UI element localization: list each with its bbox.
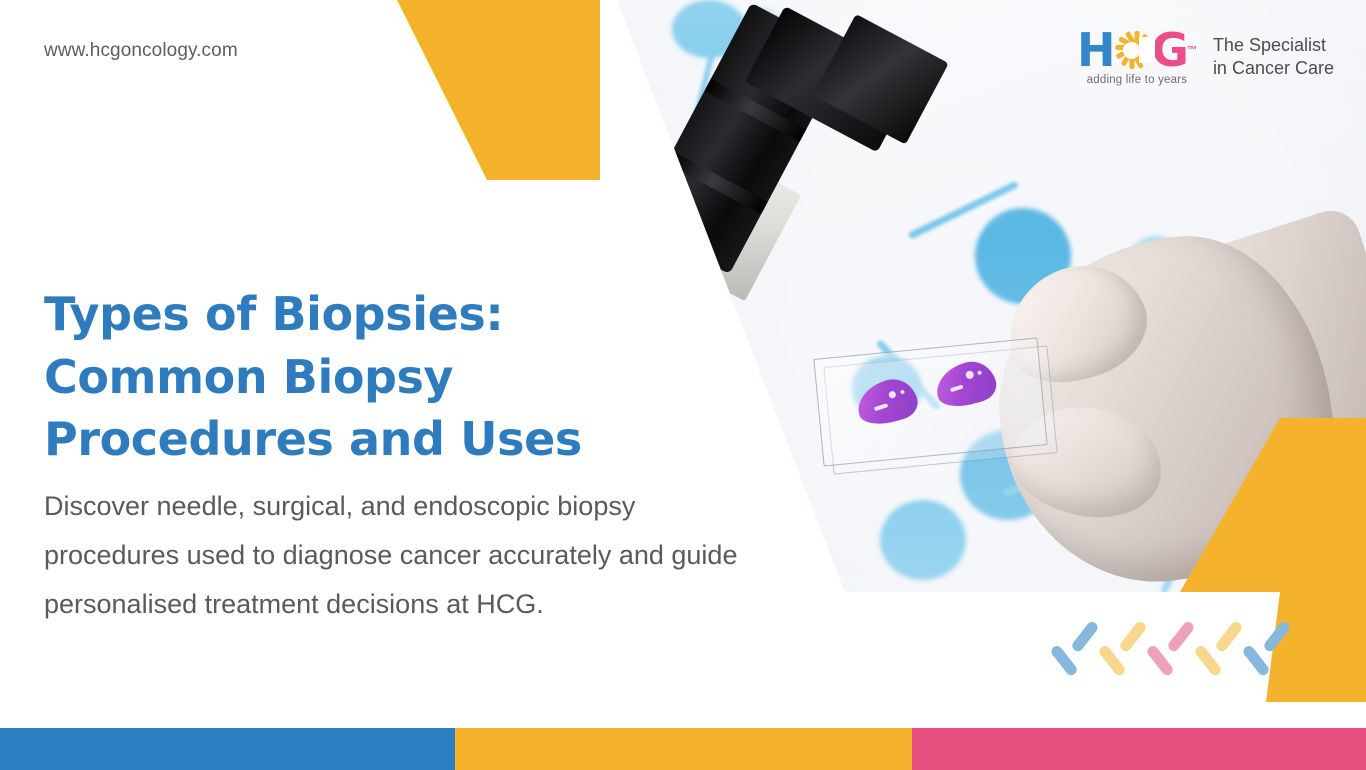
chevron-left-icon — [1250, 612, 1294, 674]
chevron-left-icon — [1058, 612, 1102, 674]
bottom-color-bar — [0, 728, 1366, 770]
microscope-ring — [666, 151, 768, 214]
tissue-specimen — [931, 356, 1001, 414]
chevron-group — [1058, 612, 1294, 674]
chevron-left-icon — [1154, 612, 1198, 674]
chevron-left-icon — [1202, 612, 1246, 674]
accent-shape-top-left — [0, 0, 600, 180]
trademark-icon: ™ — [1187, 45, 1197, 56]
glass-slide — [813, 337, 1047, 466]
logo-letter-g: G — [1151, 27, 1187, 73]
logo-letter-h: H — [1077, 27, 1114, 73]
microscope-arm — [609, 175, 701, 240]
page-subtitle: Discover needle, surgical, and endoscopi… — [44, 482, 774, 629]
slide-canvas: www.hcgoncology.com H — [0, 0, 1366, 770]
sunburst-c-icon — [1111, 29, 1152, 71]
logo-lettermark: H G ™ — [1077, 28, 1197, 72]
hcg-logo[interactable]: H G ™ — [1077, 28, 1334, 86]
logo-mark: H G ™ — [1077, 28, 1197, 86]
website-url[interactable]: www.hcgoncology.com — [44, 40, 238, 62]
bottom-bar-segment-pink — [912, 728, 1366, 770]
tissue-specimen — [852, 373, 922, 431]
chevron-left-icon — [1106, 612, 1150, 674]
page-title: Types of Biopsies: Common Biopsy Procedu… — [44, 283, 664, 471]
bottom-bar-segment-blue — [0, 728, 455, 770]
logo-tagline: The Specialist in Cancer Care — [1213, 28, 1334, 80]
bottom-bar-segment-yellow — [455, 728, 912, 770]
